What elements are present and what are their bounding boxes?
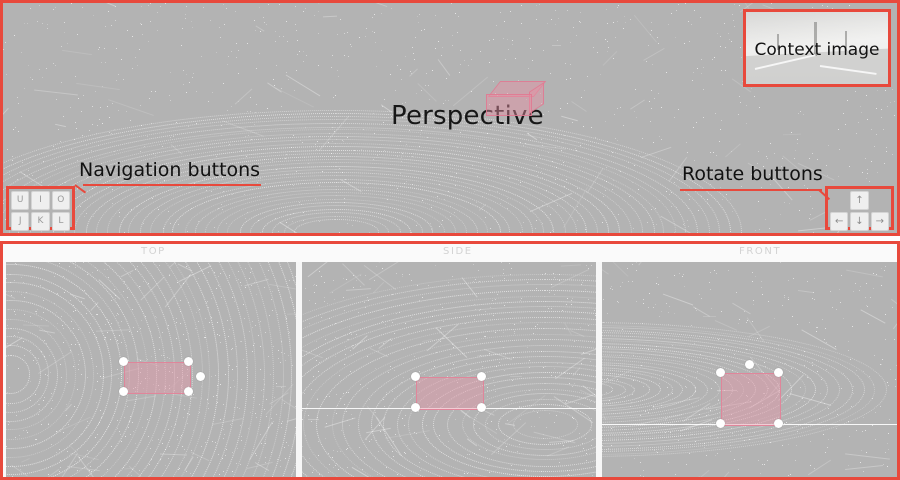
side-view-handle-bottom-right[interactable] bbox=[477, 403, 486, 412]
front-view-top-center-handle[interactable] bbox=[745, 360, 754, 369]
side-view-point-cloud[interactable] bbox=[302, 262, 596, 480]
top-view-bounding-box[interactable] bbox=[124, 362, 191, 394]
top-view-handle-bottom-right[interactable] bbox=[184, 387, 193, 396]
rotate-key-up[interactable]: ↑ bbox=[850, 191, 870, 210]
nav-key-j[interactable]: J bbox=[11, 212, 29, 231]
cuboid-front-face bbox=[486, 94, 532, 116]
top-view[interactable] bbox=[6, 262, 296, 480]
front-view-handle-top-left[interactable] bbox=[716, 368, 725, 377]
front-view-bounding-box[interactable] bbox=[721, 373, 781, 426]
rotate-buttons[interactable]: ↑ ← ↓ → bbox=[825, 186, 894, 230]
context-image-thumbnail[interactable]: Context image bbox=[743, 9, 891, 87]
side-view[interactable] bbox=[302, 262, 596, 480]
lidar-rings bbox=[602, 262, 900, 480]
front-view-point-cloud[interactable] bbox=[602, 262, 900, 480]
3d-bounding-box[interactable] bbox=[486, 81, 542, 115]
top-view-handle-top-left[interactable] bbox=[119, 357, 128, 366]
rotate-key-down[interactable]: ↓ bbox=[850, 212, 868, 231]
perspective-view-panel[interactable]: Perspective Context image U I O bbox=[0, 0, 900, 236]
front-view-handle-bottom-left[interactable] bbox=[716, 419, 725, 428]
top-view-handle-top-right[interactable] bbox=[184, 357, 193, 366]
rotate-key-left[interactable]: ← bbox=[830, 212, 848, 231]
navigation-buttons-row-1: U I O bbox=[9, 189, 72, 210]
lidar-rings bbox=[302, 262, 596, 480]
rotate-buttons-row-2: ← ↓ → bbox=[828, 210, 891, 231]
context-image-label: Context image bbox=[746, 40, 888, 60]
nav-key-l[interactable]: L bbox=[52, 212, 70, 231]
side-view-handle-bottom-left[interactable] bbox=[411, 403, 420, 412]
lidar-annotation-tool: Perspective Context image U I O bbox=[0, 0, 900, 480]
projections-panel[interactable]: TOP SIDE FRONT bbox=[0, 241, 900, 480]
navigation-callout-leader bbox=[83, 184, 261, 186]
navigation-buttons[interactable]: U I O J K L bbox=[6, 186, 75, 230]
nav-key-k[interactable]: K bbox=[31, 212, 49, 231]
rotate-key-spacer bbox=[830, 191, 848, 208]
front-view-handle-top-right[interactable] bbox=[774, 368, 783, 377]
nav-key-i[interactable]: I bbox=[31, 191, 49, 210]
rotate-callout-label: Rotate buttons bbox=[682, 163, 823, 185]
rotate-buttons-row-1: ↑ bbox=[828, 189, 891, 210]
nav-key-u[interactable]: U bbox=[11, 191, 29, 210]
rotate-key-spacer bbox=[871, 191, 889, 208]
top-view-title: TOP bbox=[141, 246, 166, 257]
navigation-buttons-row-2: J K L bbox=[9, 210, 72, 231]
side-view-title: SIDE bbox=[443, 246, 473, 257]
side-view-handle-top-left[interactable] bbox=[411, 372, 420, 381]
front-view[interactable] bbox=[602, 262, 900, 480]
nav-key-o[interactable]: O bbox=[52, 191, 70, 210]
navigation-callout-label: Navigation buttons bbox=[79, 159, 260, 181]
front-view-title: FRONT bbox=[739, 246, 781, 257]
side-view-bounding-box[interactable] bbox=[416, 377, 484, 410]
top-view-rotation-handle[interactable] bbox=[196, 372, 205, 381]
side-view-handle-top-right[interactable] bbox=[477, 372, 486, 381]
top-view-handle-bottom-left[interactable] bbox=[119, 387, 128, 396]
rotate-callout-leader bbox=[680, 189, 822, 191]
front-view-handle-bottom-right[interactable] bbox=[774, 419, 783, 428]
rotate-key-right[interactable]: → bbox=[871, 212, 889, 231]
